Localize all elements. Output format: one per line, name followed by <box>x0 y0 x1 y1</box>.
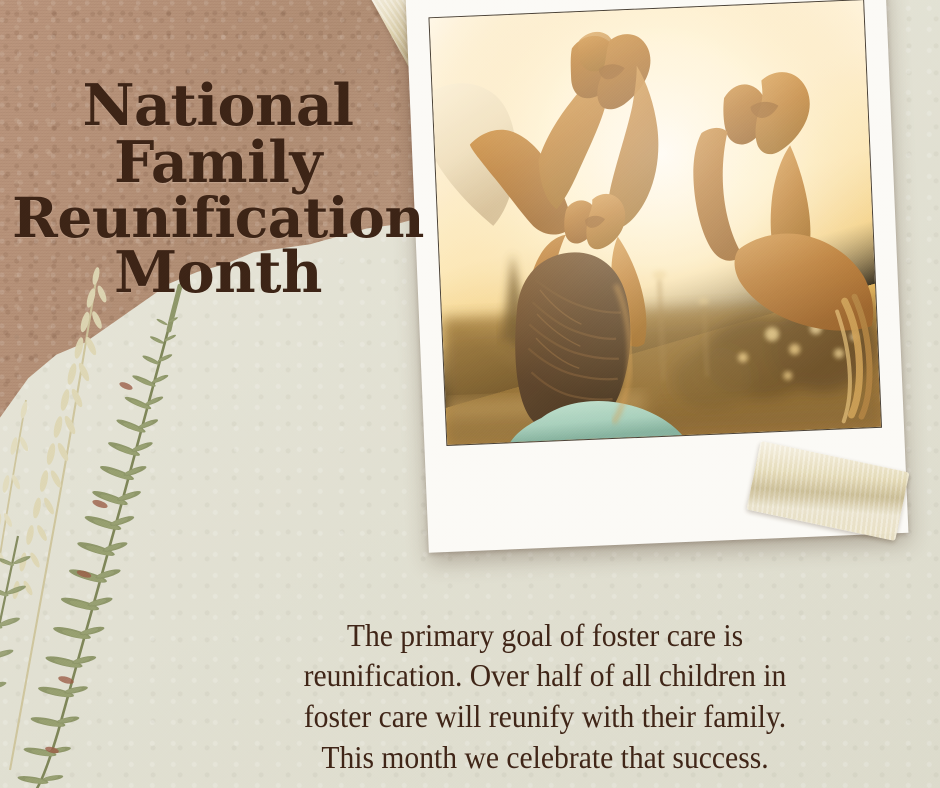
body-line-4: This month we celebrate that success. <box>174 738 917 779</box>
title-line-4: Month <box>0 245 436 301</box>
body-line-2: reunification. Over half of all children… <box>174 656 917 697</box>
body-line-1: The primary goal of foster care is <box>174 616 917 657</box>
title-line-3: Reunification <box>0 191 436 245</box>
title-line-2: Family <box>0 135 436 191</box>
title-line-1: National <box>0 78 436 134</box>
poster-canvas: National Family Reunification Month The … <box>0 0 940 788</box>
body-copy: The primary goal of foster care is reuni… <box>174 616 917 780</box>
page-title: National Family Reunification Month <box>0 78 436 302</box>
polaroid-photo <box>428 0 882 446</box>
body-line-3: foster care will reunify with their fami… <box>174 697 917 738</box>
